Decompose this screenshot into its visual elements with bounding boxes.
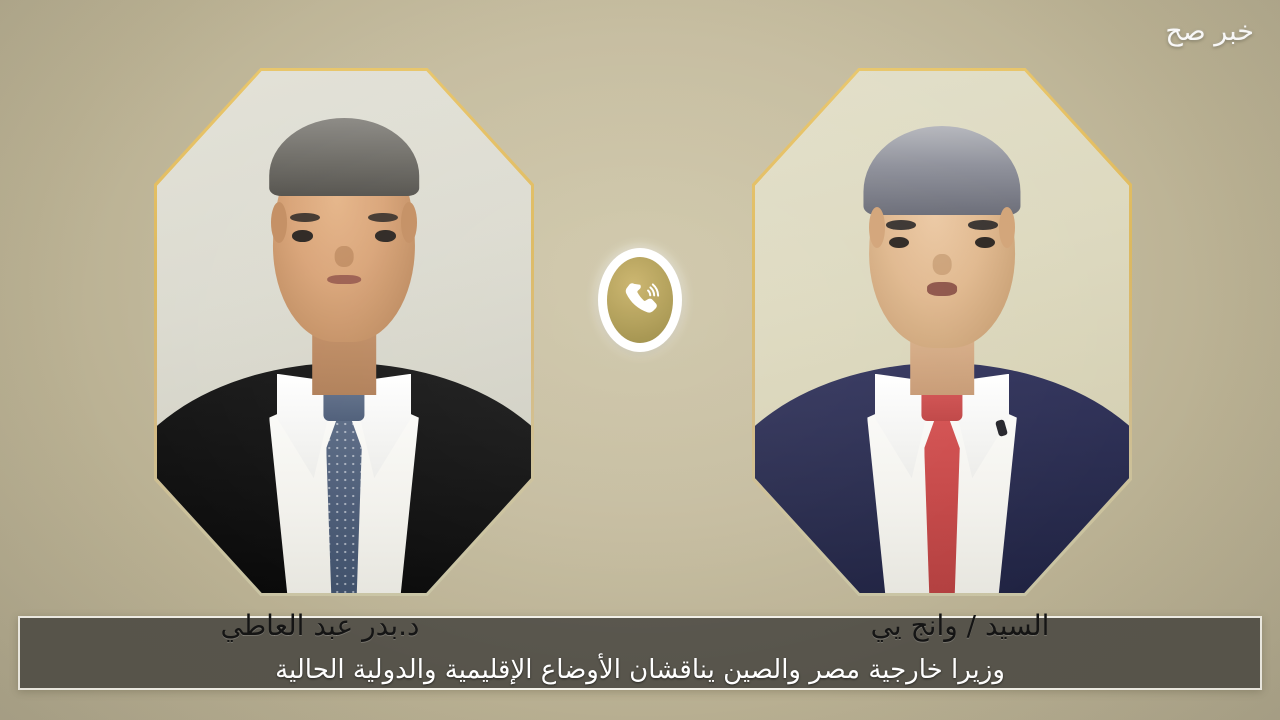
eye-right <box>375 230 395 241</box>
participant-portrait-left <box>154 68 534 596</box>
participant-portrait-right <box>752 68 1132 596</box>
octagon-photo-left <box>157 71 531 593</box>
channel-logo: خبر صح <box>1165 18 1254 45</box>
necktie-left <box>326 421 362 593</box>
nose-left <box>335 246 354 267</box>
necktie-right <box>924 421 960 593</box>
broadcast-graphic: خبر صح <box>0 0 1280 720</box>
phone-call-icon <box>598 248 682 352</box>
eyebrow-right <box>968 220 998 229</box>
mouth-left <box>327 275 361 285</box>
octagon-photo-right <box>755 71 1129 593</box>
eye-left <box>292 230 312 241</box>
eyebrow-left <box>886 220 916 229</box>
phone-call-badge <box>598 248 682 352</box>
nose-right <box>933 254 952 275</box>
headline-text: وزيرا خارجية مصر والصين يناقشان الأوضاع … <box>0 652 1280 688</box>
mouth-right <box>927 282 957 296</box>
ear-left-side <box>271 202 287 244</box>
